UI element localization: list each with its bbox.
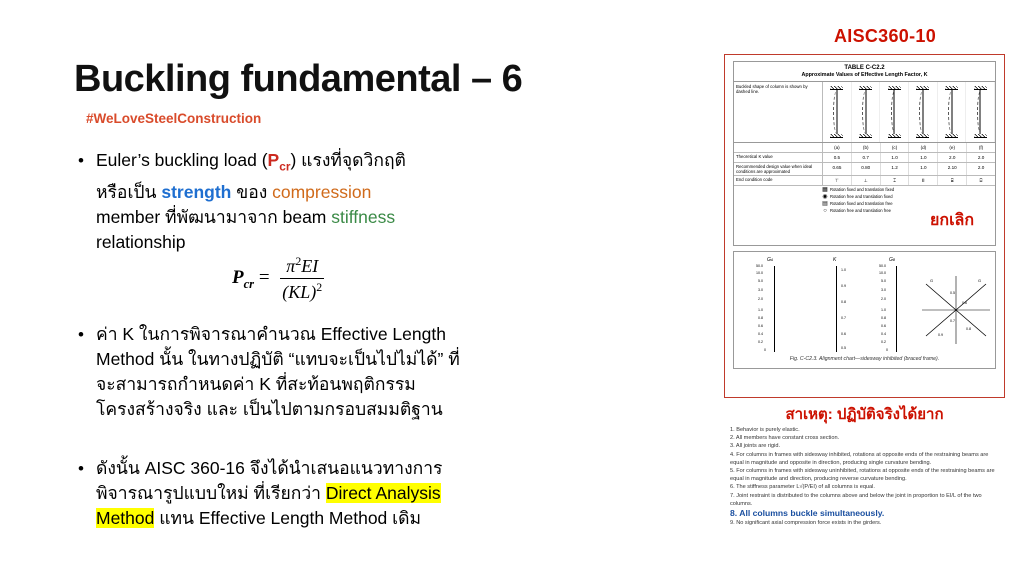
note-item-highlighted: 8. All columns buckle simultaneously. — [730, 508, 1002, 519]
formula-lhs: Pcr — [232, 267, 254, 288]
formula-lhs-symbol: P — [232, 267, 244, 288]
table-title: Approximate Values of Effective Length F… — [734, 72, 995, 82]
table-col-f: (f) — [967, 143, 995, 152]
note-item: 9. No significant axial compression forc… — [730, 519, 1002, 527]
table-cell: 2.0 — [967, 163, 995, 175]
right-tick: 0.2 — [881, 340, 886, 344]
note-item: 1. Behavior is purely elastic. — [730, 426, 1002, 434]
row-label-theoretical: Theoretical K value — [734, 153, 823, 162]
formula-equals: = — [259, 267, 270, 288]
chart-mid-axis-label: K — [833, 257, 836, 263]
formula-pi: π — [286, 256, 295, 276]
alignment-chart: GA 50.0 10.0 5.0 3.0 2.0 1.0 0.8 0.6 0.4… — [733, 251, 996, 369]
note-item: 4. For columns in frames with sidesway i… — [730, 451, 1002, 467]
bullet-line: หรือเป็น strength ของ compression — [96, 180, 634, 205]
right-tick: 5.0 — [881, 279, 886, 283]
buckled-shape-e — [938, 82, 967, 142]
right-caption: สาเหตุ: ปฏิบัติจริงได้ยาก — [724, 402, 1005, 426]
left-tick: 2.0 — [758, 297, 763, 301]
formula-kl-exponent: 2 — [316, 280, 322, 294]
legend-item: ▦ Rotation fixed and translation fixed — [734, 186, 995, 193]
mid-tick: 1.0 — [841, 268, 846, 272]
end-condition-code: ⊤ — [823, 176, 852, 185]
note-item: 6. The stiffness parameter L√(P/EI) of a… — [730, 483, 1002, 491]
legend-item: ▤ Rotation fixed and translation free — [734, 200, 995, 207]
dam-text-2: แทน Effective Length Method เดิม — [154, 508, 421, 528]
table-cell: 2.0 — [967, 153, 995, 162]
table-cell: 1.0 — [909, 163, 938, 175]
buckled-shape-c — [880, 82, 909, 142]
table-cell: 2.10 — [938, 163, 967, 175]
strength-keyword: strength — [161, 182, 231, 202]
rotation-free-translation-fixed-icon: ◉ — [820, 194, 830, 200]
note-item: 7. Joint restraint is distributed to the… — [730, 492, 1002, 508]
euler-formula: Pcr = π2EI (KL)2 — [232, 254, 324, 303]
bullet-line: ดังนั้น AISC 360-16 จึงได้นำเสนอแนวทางกา… — [96, 456, 676, 481]
rotation-fixed-translation-fixed-icon: ▦ — [820, 187, 830, 193]
end-condition-code: ⊥ — [852, 176, 881, 185]
euler-text-1: Euler’s buckling load ( — [96, 150, 268, 170]
formula-fraction: π2EI (KL)2 — [280, 254, 324, 303]
formula-ei: EI — [301, 256, 318, 276]
table-col-a: (a) — [823, 143, 852, 152]
svg-text:0.5: 0.5 — [950, 291, 955, 295]
note-item: 5. For columns in frames with sidesway u… — [730, 467, 1002, 483]
formula-numerator: π2EI — [280, 254, 324, 279]
left-tick: 3.0 — [758, 288, 763, 292]
bullet-list: Euler’s buckling load (Pcr) แรงที่จุดวิก… — [74, 148, 634, 261]
cancel-stamp: ยกเลิก — [930, 208, 974, 233]
bullet-line: ค่า K ในการพิจารณาคำนวณ Effective Length — [96, 322, 676, 347]
dam-highlight-2: Method — [96, 508, 154, 528]
svg-text:G: G — [978, 278, 981, 283]
end-condition-code: ⌷ — [909, 176, 938, 185]
table-endcondition-row: End condition code ⊤ ⊥ ⌶ ⌷ ⌸ ⌹ — [734, 176, 995, 186]
table-cell: 1.2 — [881, 163, 910, 175]
bullet-line: จะสามารถกำหนดค่า K ที่สะท้อนพฤติกรรม — [96, 372, 676, 397]
pcr-subscript: cr — [279, 160, 290, 174]
left-tick: 5.0 — [758, 279, 763, 283]
svg-text:0.6: 0.6 — [962, 301, 967, 305]
bullet-line: member ที่พัฒนามาจาก beam stiffness — [96, 205, 634, 230]
note-item: 2. All members have constant cross secti… — [730, 434, 1002, 442]
left-tick: 10.0 — [756, 271, 763, 275]
euler-text-5: member ที่พัฒนามาจาก beam — [96, 207, 331, 227]
note-item: 3. All joints are rigid. — [730, 442, 1002, 450]
bullet-kfactor: ค่า K ในการพิจารณาคำนวณ Effective Length… — [74, 322, 676, 422]
right-tick: 2.0 — [881, 297, 886, 301]
table-cell: 0.7 — [852, 153, 881, 162]
formula-lhs-subscript: cr — [244, 277, 254, 291]
svg-text:0.9: 0.9 — [938, 333, 943, 337]
table-row: Recommended design value when ideal cond… — [734, 163, 995, 176]
bullet-line: โครงสร้างจริง และ เป็นไปตามกรอบสมมติฐาน — [96, 397, 676, 422]
right-tick: 1.0 — [881, 308, 886, 312]
chart-left-axis — [774, 266, 775, 352]
end-condition-code: ⌹ — [967, 176, 995, 185]
pcr-symbol: P — [268, 150, 280, 170]
mid-tick: 0.7 — [841, 316, 846, 320]
table-sketch-row: Buckled shape of column is shown by dash… — [734, 82, 995, 143]
legend-label: Rotation fixed and translation free — [830, 201, 893, 207]
buckled-shape-label: Buckled shape of column is shown by dash… — [734, 82, 823, 142]
left-tick: 1.0 — [758, 308, 763, 312]
left-tick: 0.4 — [758, 332, 763, 336]
bullet-line: relationship — [96, 230, 634, 255]
chart-right-axis-label: GB — [889, 257, 895, 263]
table-cell: 0.65 — [823, 163, 852, 175]
hashtag-label: #WeLoveSteelConstruction — [86, 111, 261, 126]
table-col-d: (d) — [909, 143, 938, 152]
svg-text:G: G — [930, 278, 933, 283]
right-tick: 10.0 — [879, 271, 886, 275]
left-tick: 0.2 — [758, 340, 763, 344]
bullet-line: Method แทน Effective Length Method เดิม — [96, 506, 676, 531]
euler-text-4: ของ — [231, 182, 272, 202]
euler-text-3: หรือเป็น — [96, 182, 161, 202]
row-label-recommended: Recommended design value when ideal cond… — [734, 163, 823, 175]
right-tick: 0.4 — [881, 332, 886, 336]
rotation-free-translation-free-icon: ○ — [820, 208, 830, 214]
bullet-line: พิจารณารูปแบบใหม่ ที่เรียกว่า Direct Ana… — [96, 481, 676, 506]
chart-left-axis-label: GA — [767, 257, 773, 263]
right-tick: 3.0 — [881, 288, 886, 292]
stiffness-keyword: stiffness — [331, 207, 395, 227]
right-tick: 0 — [886, 348, 888, 352]
table-col-e: (e) — [938, 143, 967, 152]
chart-mid-axis — [836, 266, 837, 352]
buckled-shape-d — [909, 82, 938, 142]
table-cell: 1.0 — [881, 153, 910, 162]
table-row: Theoretical K value 0.5 0.7 1.0 1.0 2.0 … — [734, 153, 995, 163]
mid-tick: 0.9 — [841, 284, 846, 288]
bullet-euler: Euler’s buckling load (Pcr) แรงที่จุดวิก… — [74, 148, 634, 255]
end-condition-code: ⌶ — [881, 176, 910, 185]
table-col-b: (b) — [852, 143, 881, 152]
legend-item: ◉ Rotation free and translation fixed — [734, 193, 995, 200]
table-header-row: (a) (b) (c) (d) (e) (f) — [734, 143, 995, 153]
legend-label: Rotation free and translation fixed — [830, 194, 893, 200]
bullet-line: Euler’s buckling load (Pcr) แรงที่จุดวิก… — [96, 148, 634, 180]
right-tick: 50.0 — [879, 264, 886, 268]
mid-tick: 0.5 — [841, 346, 846, 350]
right-tick: 0.6 — [881, 324, 886, 328]
buckled-shape-f — [966, 82, 995, 142]
left-tick: 0.8 — [758, 316, 763, 320]
left-tick: 0.6 — [758, 324, 763, 328]
page-title: Buckling fundamental – 6 — [74, 58, 522, 101]
euler-text-2: ) แรงที่จุดวิกฤติ — [290, 150, 405, 170]
left-tick: 50.0 — [756, 264, 763, 268]
formula-denominator: (KL)2 — [280, 279, 324, 303]
table-cell: 0.80 — [852, 163, 881, 175]
buckled-shape-a — [823, 82, 852, 142]
legend-label: Rotation fixed and translation fixed — [830, 187, 894, 193]
end-condition-code: ⌸ — [938, 176, 967, 185]
table-cell: 0.5 — [823, 153, 852, 162]
table-col-c: (c) — [881, 143, 910, 152]
table-cell: 2.0 — [938, 153, 967, 162]
mid-tick: 0.6 — [841, 332, 846, 336]
bullet-line: Method นั้น ในทางปฏิบัติ “แทบจะเป็นไปไม่… — [96, 347, 676, 372]
figure-caption: Fig. C-C2.3. Alignment chart—sidesway in… — [734, 356, 995, 362]
rotation-fixed-translation-free-icon: ▤ — [820, 201, 830, 207]
formula-kl: (KL) — [282, 282, 316, 302]
table-number: TABLE C-C2.2 — [734, 62, 995, 72]
svg-text:0.8: 0.8 — [966, 327, 971, 331]
right-tick: 0.8 — [881, 316, 886, 320]
mid-tick: 0.8 — [841, 300, 846, 304]
table-header-blank — [734, 143, 823, 152]
dam-highlight-1: Direct Analysis — [326, 483, 441, 503]
end-condition-label: End condition code — [734, 176, 823, 185]
compression-keyword: compression — [272, 182, 371, 202]
bullet-dam: ดังนั้น AISC 360-16 จึงได้นำเสนอแนวทางกา… — [74, 456, 676, 531]
svg-text:0.7: 0.7 — [950, 319, 955, 323]
buckled-shape-b — [852, 82, 881, 142]
table-cell: 1.0 — [909, 153, 938, 162]
standard-title: AISC360-10 — [745, 26, 1024, 47]
chart-right-axis — [896, 266, 897, 352]
assumption-notes: 1. Behavior is purely elastic. 2. All me… — [730, 426, 1002, 527]
left-tick: 0 — [764, 348, 766, 352]
dam-text-1: พิจารณารูปแบบใหม่ ที่เรียกว่า — [96, 483, 326, 503]
column-restraint-sketch: G G 0.5 0.6 0.7 0.8 0.9 — [920, 274, 992, 348]
legend-label: Rotation free and translation free — [830, 208, 891, 214]
